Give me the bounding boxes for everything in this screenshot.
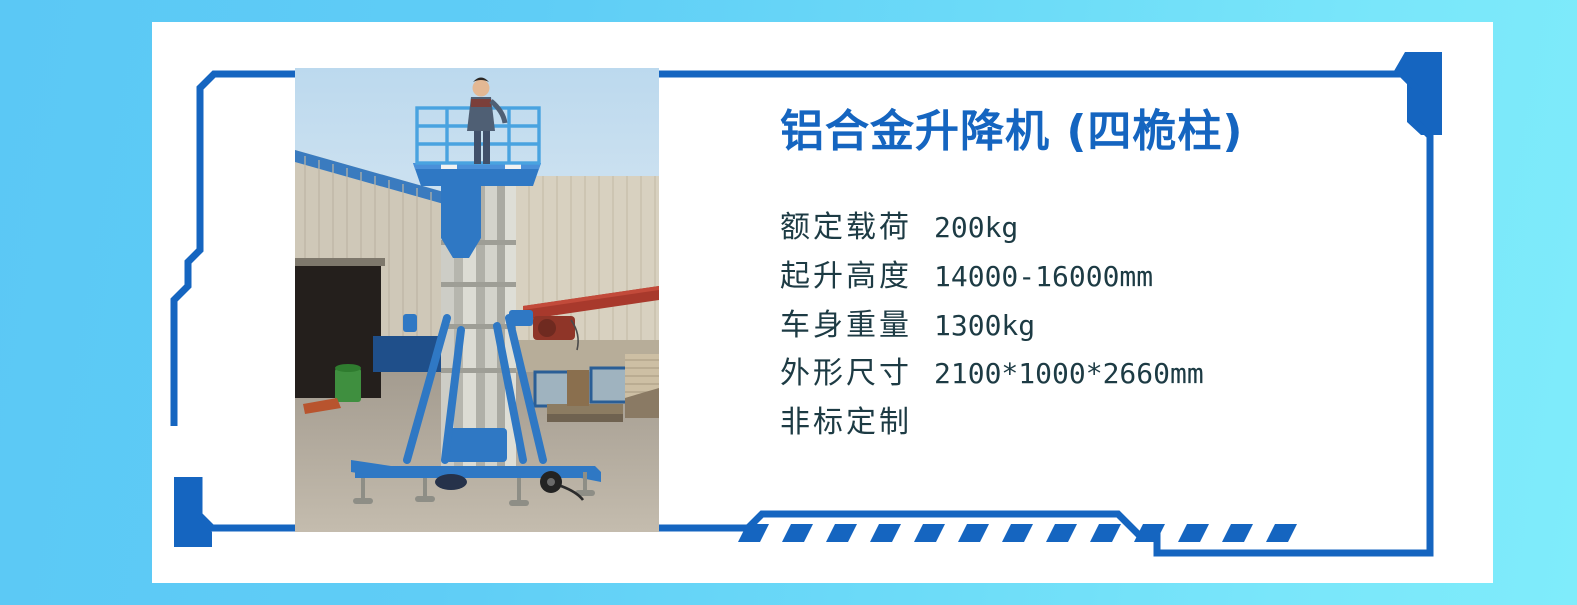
spec-label-body-weight: 车身重量 xyxy=(780,302,912,351)
spec-label-dimensions: 外形尺寸 xyxy=(780,350,912,399)
page-title: 铝合金升降机 (四桅柱) xyxy=(780,108,1440,156)
product-info: 铝合金升降机 (四桅柱) 额定载荷 200kg 起升高度 14000-16000… xyxy=(780,108,1440,447)
spec-label-lifting-height: 起升高度 xyxy=(780,253,912,302)
spec-row-custom-made: 非标定制 xyxy=(780,399,1440,448)
stripe-group xyxy=(738,524,1297,542)
spec-row-lifting-height: 起升高度 14000-16000mm xyxy=(780,253,1440,302)
corner-block-bottom-left xyxy=(174,477,212,547)
product-photo xyxy=(295,68,659,532)
spec-row-body-weight: 车身重量 1300kg xyxy=(780,302,1440,351)
product-photo-illustration xyxy=(295,68,659,532)
spec-label-rated-load: 额定载荷 xyxy=(780,204,912,253)
spec-value-dimensions: 2100*1000*2660mm xyxy=(934,351,1204,396)
spec-value-lifting-height: 14000-16000mm xyxy=(934,254,1153,299)
spec-list: 额定载荷 200kg 起升高度 14000-16000mm 车身重量 1300k… xyxy=(780,204,1440,447)
spec-row-dimensions: 外形尺寸 2100*1000*2660mm xyxy=(780,350,1440,399)
spec-row-rated-load: 额定载荷 200kg xyxy=(780,204,1440,253)
product-banner-card: 铝合金升降机 (四桅柱) 额定载荷 200kg 起升高度 14000-16000… xyxy=(152,22,1493,583)
spec-value-rated-load: 200kg xyxy=(934,205,1018,250)
spec-value-body-weight: 1300kg xyxy=(934,303,1035,348)
spec-label-custom-made: 非标定制 xyxy=(780,399,912,448)
